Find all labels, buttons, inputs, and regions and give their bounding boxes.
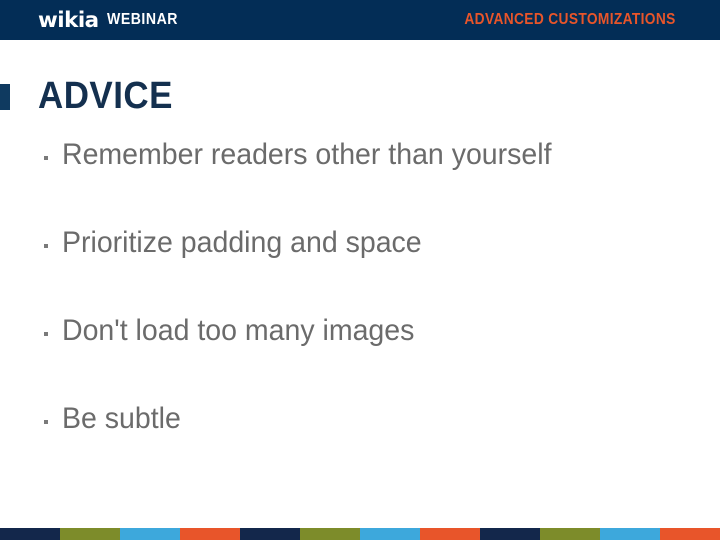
footer-color-segment bbox=[480, 528, 540, 540]
footer-color-segment bbox=[600, 528, 660, 540]
header-bar: wikia WEBINAR ADVANCED CUSTOMIZATIONS bbox=[0, 0, 720, 40]
footer-color-segment bbox=[180, 528, 240, 540]
wikia-logo: wikia bbox=[38, 10, 99, 31]
footer-color-strip bbox=[0, 528, 720, 540]
bullet-dot-icon bbox=[44, 156, 48, 160]
footer-color-segment bbox=[120, 528, 180, 540]
footer-color-segment bbox=[60, 528, 120, 540]
list-item-label: Remember readers other than yourself bbox=[62, 138, 551, 172]
bullet-dot-icon bbox=[44, 332, 48, 336]
page-title: ADVICE bbox=[38, 76, 173, 116]
footer-color-segment bbox=[0, 528, 60, 540]
list-item-label: Don't load too many images bbox=[62, 314, 414, 348]
bullet-dot-icon bbox=[44, 244, 48, 248]
bullet-dot-icon bbox=[44, 420, 48, 424]
list-item: Be subtle bbox=[40, 402, 680, 490]
list-item: Remember readers other than yourself bbox=[40, 138, 680, 226]
webinar-label: WEBINAR bbox=[107, 12, 178, 28]
list-item-label: Prioritize padding and space bbox=[62, 226, 422, 260]
brand-block: wikia WEBINAR bbox=[38, 0, 188, 40]
section-label: ADVANCED CUSTOMIZATIONS bbox=[465, 12, 676, 28]
title-accent-bar bbox=[0, 84, 10, 110]
footer-color-segment bbox=[420, 528, 480, 540]
footer-color-segment bbox=[300, 528, 360, 540]
footer-color-segment bbox=[360, 528, 420, 540]
header-right: ADVANCED CUSTOMIZATIONS bbox=[430, 0, 676, 40]
list-item-label: Be subtle bbox=[62, 402, 181, 436]
footer-color-segment bbox=[240, 528, 300, 540]
advice-list: Remember readers other than yourself Pri… bbox=[40, 138, 680, 490]
list-item: Don't load too many images bbox=[40, 314, 680, 402]
footer-color-segment bbox=[660, 528, 720, 540]
footer-color-segment bbox=[540, 528, 600, 540]
list-item: Prioritize padding and space bbox=[40, 226, 680, 314]
slide: wikia WEBINAR ADVANCED CUSTOMIZATIONS AD… bbox=[0, 0, 720, 540]
